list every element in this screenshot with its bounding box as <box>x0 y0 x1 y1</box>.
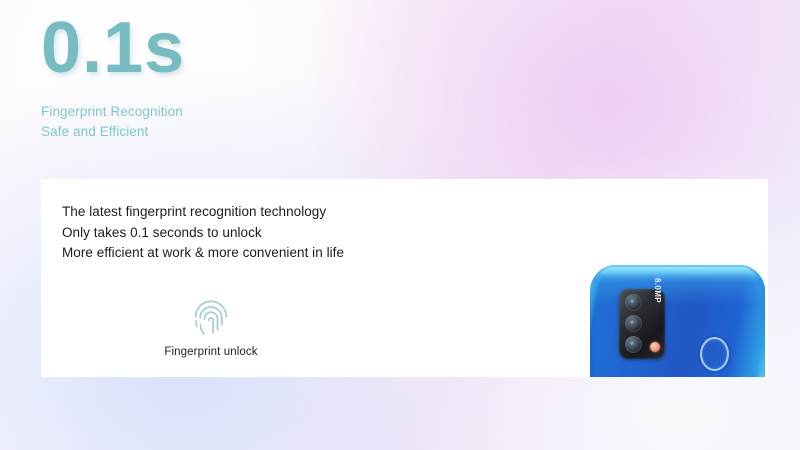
fingerprint-unlock-label: Fingerprint unlock <box>141 346 281 358</box>
content-card: The latest fingerprint recognition techn… <box>41 179 768 377</box>
phone-fingerprint-sensor <box>700 337 729 371</box>
hero-subtitle: Fingerprint Recognition Safe and Efficie… <box>41 102 185 141</box>
phone-product-image: 8.0MP <box>590 265 765 377</box>
camera-module: 8.0MP <box>619 289 665 359</box>
fingerprint-unlock-block: Fingerprint unlock <box>141 297 281 358</box>
feature-description: The latest fingerprint recognition techn… <box>62 202 344 264</box>
phone-top-edge-highlight <box>597 267 758 283</box>
camera-lens <box>625 315 642 332</box>
camera-lens <box>625 294 642 311</box>
hero-number: 0.1s <box>41 12 185 84</box>
hero-heading-group: 0.1s Fingerprint Recognition Safe and Ef… <box>41 12 185 141</box>
camera-lens <box>625 336 642 353</box>
fingerprint-icon <box>190 297 232 339</box>
camera-megapixel-label: 8.0MP <box>653 278 662 303</box>
camera-flash-icon <box>650 342 660 352</box>
promo-banner: 0.1s Fingerprint Recognition Safe and Ef… <box>0 0 800 450</box>
